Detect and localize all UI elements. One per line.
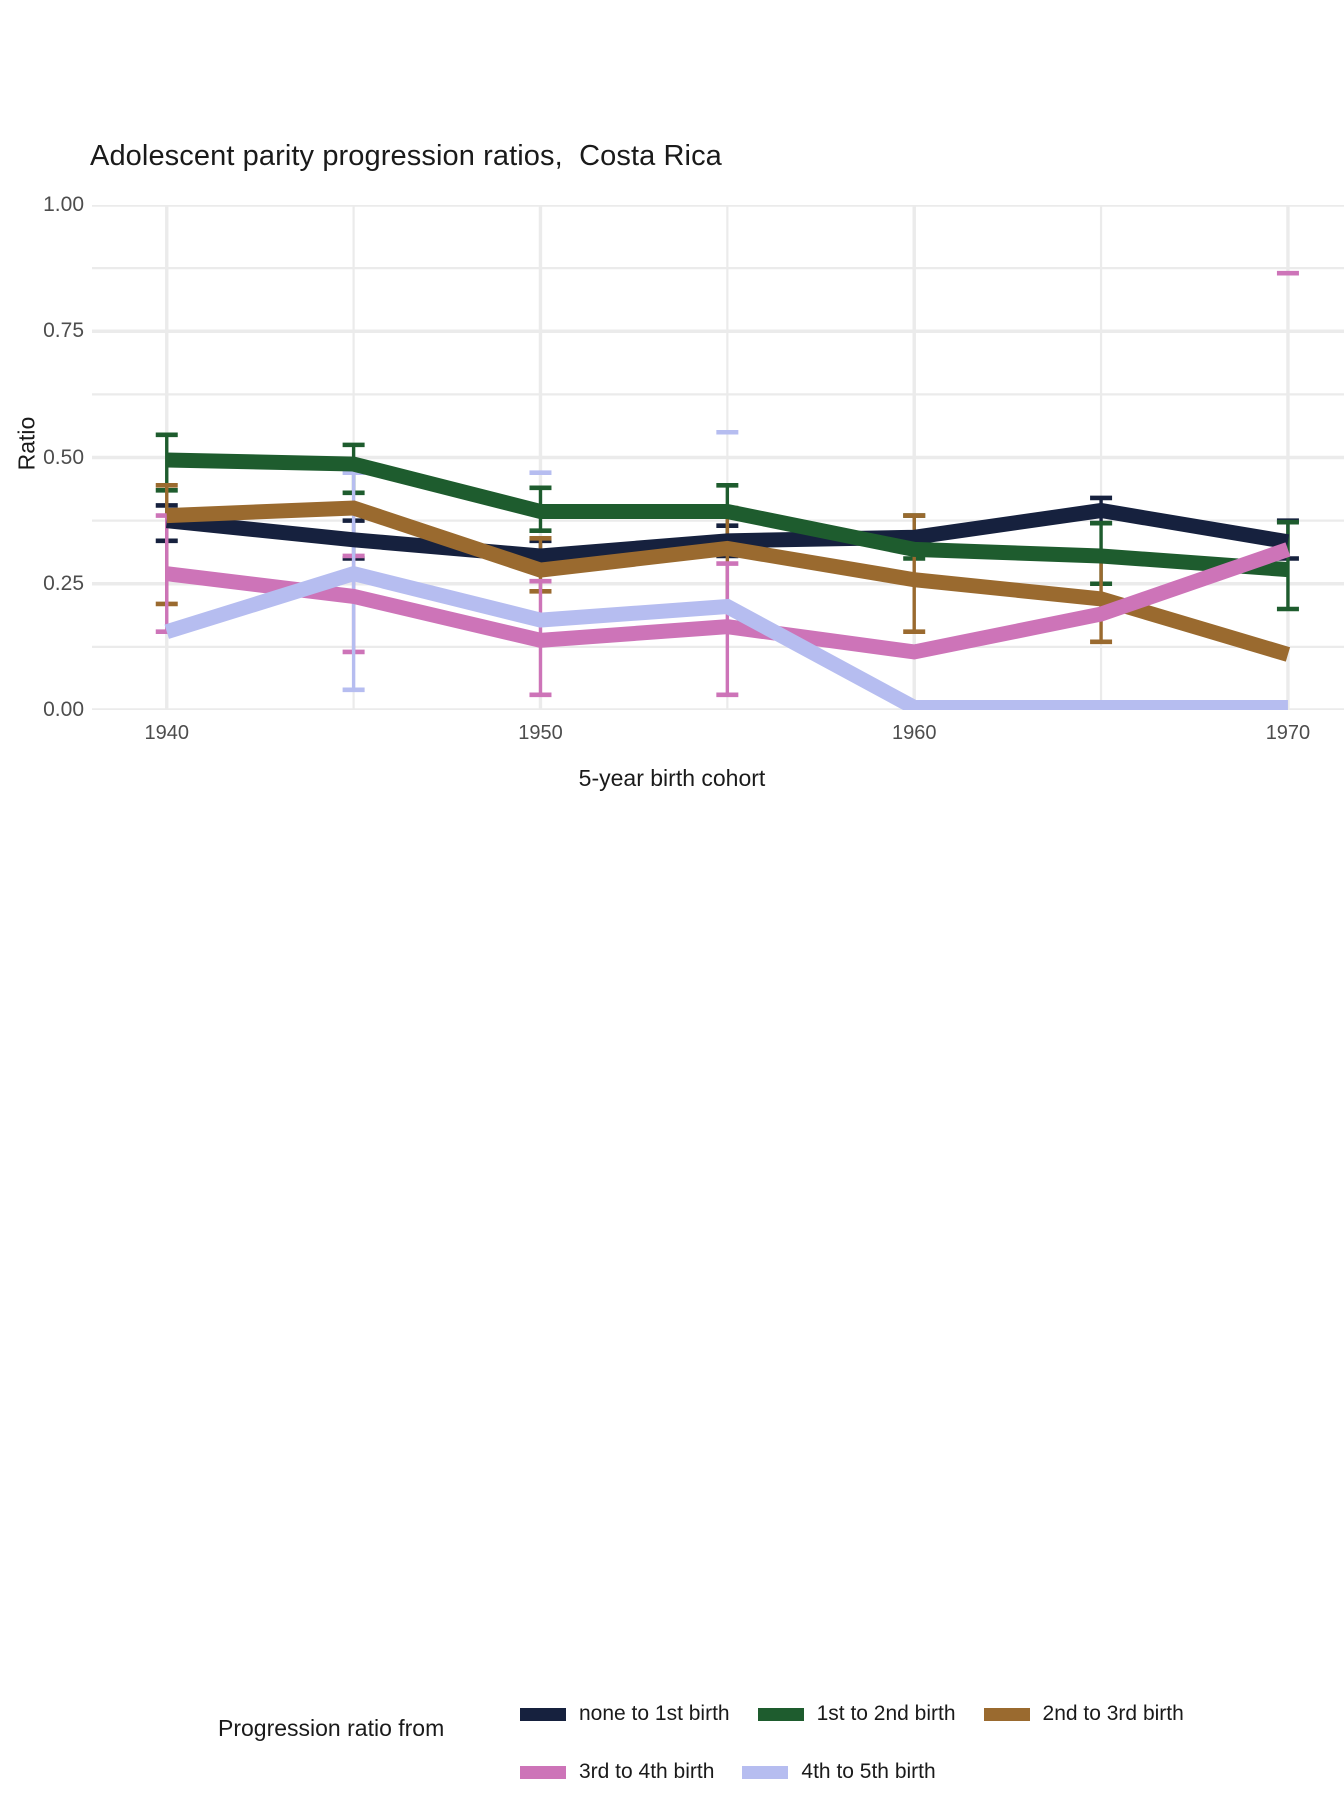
legend-item[interactable]: 4th to 5th birth <box>742 1760 935 1784</box>
x-tick-label: 1940 <box>144 722 189 745</box>
x-axis-title: 5-year birth cohort <box>0 765 1344 792</box>
legend-row: none to 1st birth1st to 2nd birth2nd to … <box>520 1685 1340 1743</box>
y-tick-label: 0.50 <box>4 446 84 470</box>
x-tick-label: 1950 <box>518 722 563 745</box>
x-tick-label: 1970 <box>1266 722 1311 745</box>
plot-area <box>92 205 1344 710</box>
legend-item[interactable]: none to 1st birth <box>520 1702 730 1726</box>
legend-item[interactable]: 2nd to 3rd birth <box>984 1702 1184 1726</box>
legend-swatch-icon <box>742 1766 788 1779</box>
chart-figure: Adolescent parity progression ratios, Co… <box>0 0 1344 960</box>
legend-label: 1st to 2nd birth <box>817 1702 956 1726</box>
y-tick-label: 1.00 <box>4 193 84 217</box>
legend-row: 3rd to 4th birth4th to 5th birth <box>520 1743 1340 1801</box>
x-tick-label: 1960 <box>892 722 937 745</box>
y-axis-title: Ratio <box>14 394 41 494</box>
legend-item[interactable]: 1st to 2nd birth <box>758 1702 956 1726</box>
legend-swatch-icon <box>984 1708 1030 1721</box>
legend-label: none to 1st birth <box>579 1702 730 1726</box>
y-tick-label: 0.75 <box>4 319 84 343</box>
legend-label: 2nd to 3rd birth <box>1043 1702 1184 1726</box>
legend-items: none to 1st birth1st to 2nd birth2nd to … <box>520 1685 1340 1801</box>
legend-label: 4th to 5th birth <box>801 1760 935 1784</box>
chart-legend: Progression ratio from none to 1st birth… <box>0 840 1344 955</box>
plot-canvas <box>92 205 1344 710</box>
legend-swatch-icon <box>758 1708 804 1721</box>
y-tick-label: 0.00 <box>4 698 84 722</box>
legend-title: Progression ratio from <box>218 1715 444 1742</box>
legend-item[interactable]: 3rd to 4th birth <box>520 1760 714 1784</box>
legend-swatch-icon <box>520 1708 566 1721</box>
y-tick-label: 0.25 <box>4 572 84 596</box>
chart-title: Adolescent parity progression ratios, Co… <box>90 140 722 173</box>
legend-swatch-icon <box>520 1766 566 1779</box>
legend-label: 3rd to 4th birth <box>579 1760 714 1784</box>
